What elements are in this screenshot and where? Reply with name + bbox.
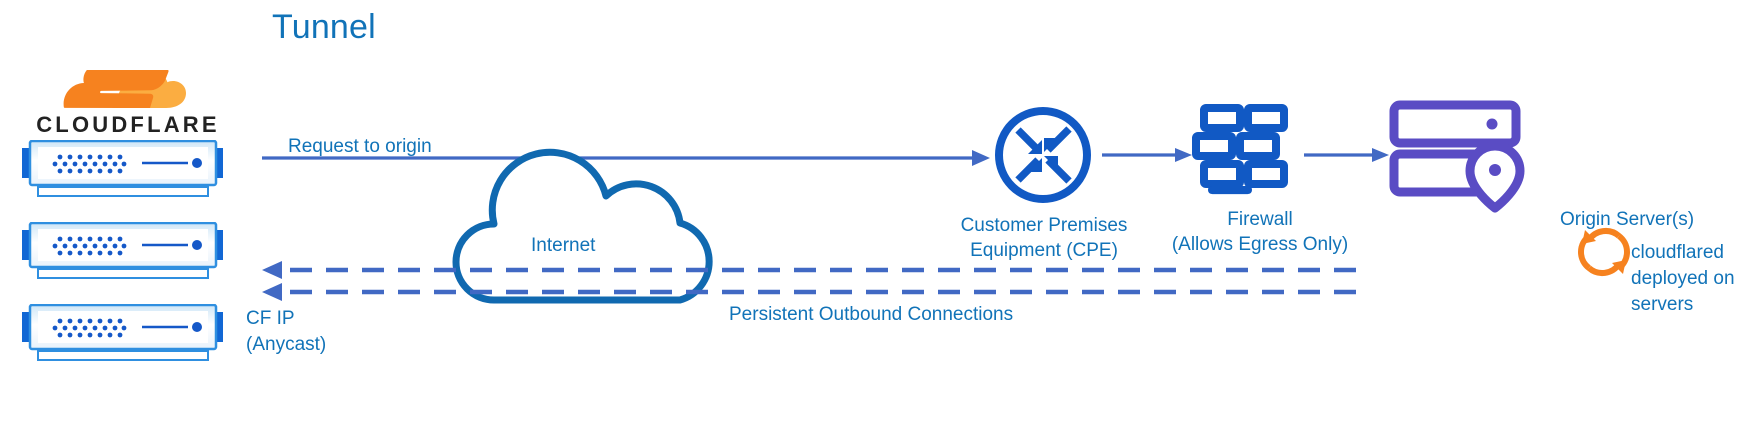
cloudflared-note-line3: servers xyxy=(1631,292,1751,318)
cloudflare-wordmark: CLOUDFLARE xyxy=(28,112,228,138)
cloudflare-logo: CLOUDFLARE xyxy=(28,70,228,142)
origin-servers-label: Origin Server(s) xyxy=(1560,207,1694,232)
cpe-to-firewall-arrow xyxy=(1102,148,1192,162)
four-arrows-circle-icon xyxy=(999,111,1087,199)
firewall-label-line1: Firewall xyxy=(1156,207,1364,232)
cloud-outline-icon xyxy=(456,152,709,300)
cloudflared-note-label: cloudflared deployed on servers xyxy=(1631,240,1751,318)
diagram-vector-layer xyxy=(0,0,1754,422)
server-location-pin-icon xyxy=(1394,105,1520,208)
page-title: Tunnel xyxy=(272,8,376,47)
server-appliance-icon xyxy=(20,140,225,200)
cpe-label: Customer Premises Equipment (CPE) xyxy=(938,213,1150,263)
request-to-origin-label: Request to origin xyxy=(288,134,432,159)
cf-ip-label-line1: CF IP xyxy=(246,306,376,332)
server-appliance-icon xyxy=(20,304,225,364)
cpe-label-line2: Equipment (CPE) xyxy=(938,238,1150,263)
list-item xyxy=(20,304,225,364)
cf-ip-label-line2: (Anycast) xyxy=(246,332,376,358)
list-item xyxy=(20,140,225,200)
cf-ip-label: CF IP (Anycast) xyxy=(246,306,376,358)
persistent-outbound-connections-arrows xyxy=(262,261,1356,301)
server-appliance-icon xyxy=(20,222,225,282)
tunnel-diagram: Tunnel CLOUDFLARE xyxy=(0,0,1754,422)
persistent-outbound-connections-label: Persistent Outbound Connections xyxy=(729,302,1013,327)
cpe-label-line1: Customer Premises xyxy=(938,213,1150,238)
firewall-label: Firewall (Allows Egress Only) xyxy=(1156,207,1364,257)
cloudflared-note-line1: cloudflared xyxy=(1631,240,1751,266)
firewall-to-origin-arrow xyxy=(1304,148,1389,162)
cloudflared-note-line2: deployed on xyxy=(1631,266,1751,292)
list-item xyxy=(20,222,225,282)
brick-wall-icon xyxy=(1196,108,1284,184)
firewall-label-line2: (Allows Egress Only) xyxy=(1156,232,1364,257)
internet-label: Internet xyxy=(531,233,595,258)
sync-arrows-icon xyxy=(1581,230,1627,274)
